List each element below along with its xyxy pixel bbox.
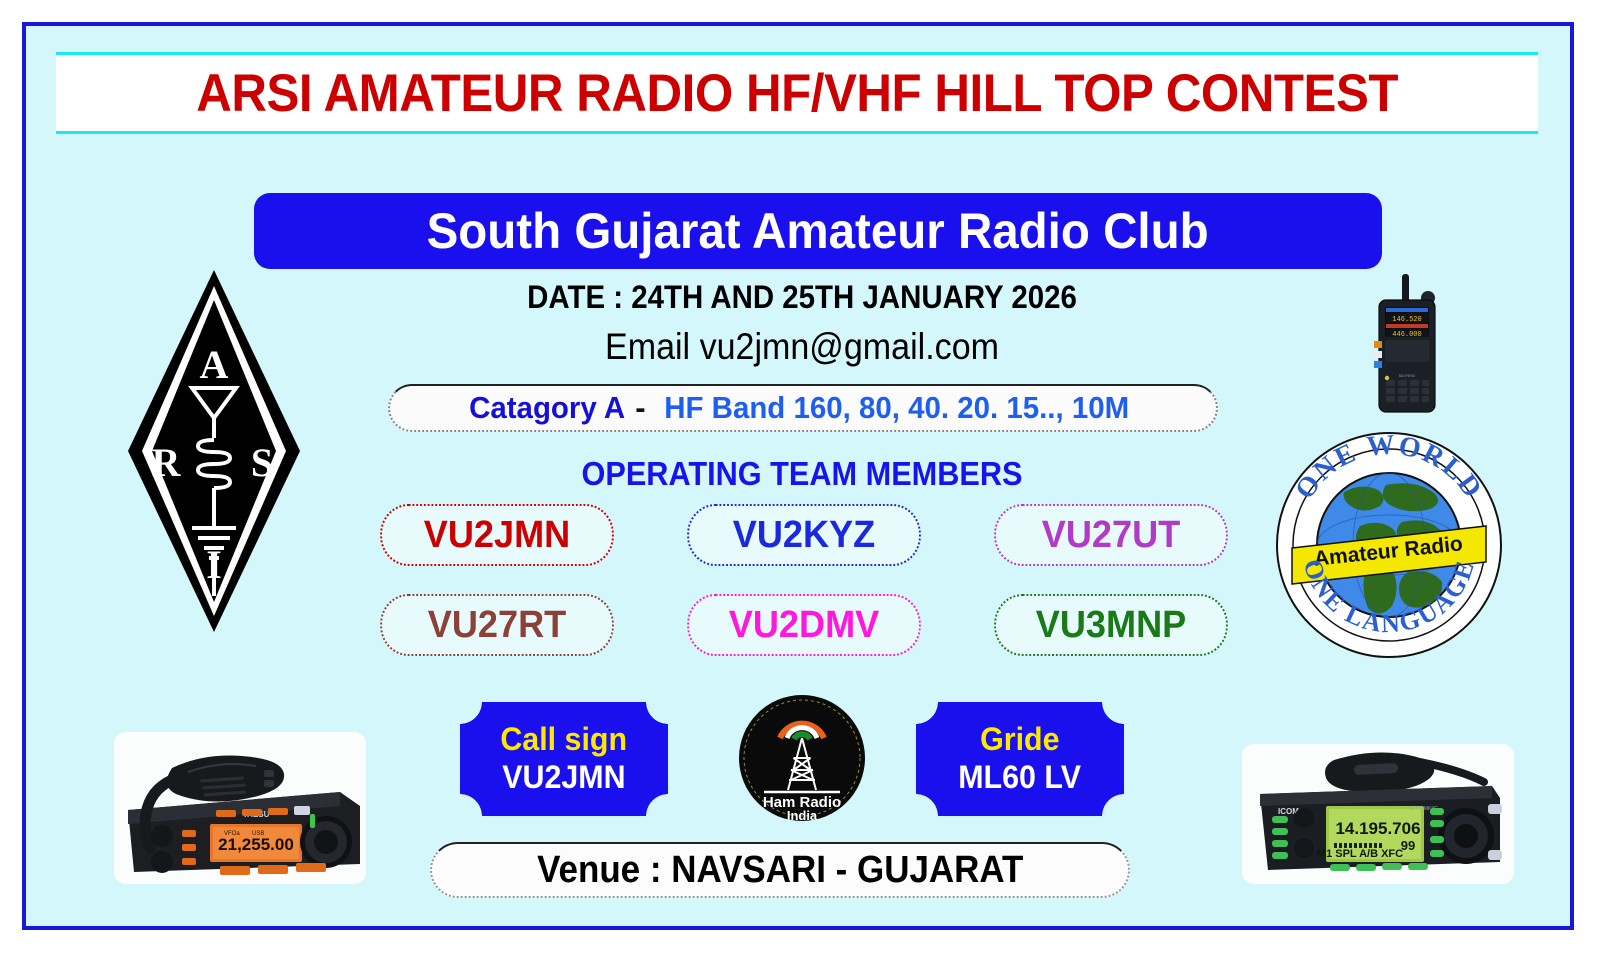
club-name-banner: South Gujarat Amateur Radio Club (254, 193, 1382, 269)
icom-radio-icon: 14.195.706 M1 SPL A/B XFC 99 ICOM IC-706… (1242, 744, 1514, 884)
hh-brand: BAOFENG (1399, 374, 1416, 378)
yaesu-hf-transceiver-photo: 21,255.00 VFOa USB YAESU (114, 732, 366, 884)
callsign-badge: VU2DMV (687, 594, 921, 656)
callsign-badge-label: Call sign (501, 721, 628, 758)
category-bands: HF Band 160, 80, 40. 20. 15.., 10M (664, 390, 1129, 426)
hh-display-line2: 446.000 (1392, 331, 1421, 339)
callsign-cell: VU3MNP (957, 594, 1264, 656)
grid-info-badge: Gride ML60 LV (916, 702, 1124, 816)
qsl-card: ARSI AMATEUR RADIO HF/VHF HILL TOP CONTE… (22, 22, 1574, 930)
icom-frequency: 14.195.706 (1335, 819, 1420, 838)
callsign-grid: VU2JMN VU2KYZ VU27UT VU27RT VU2DMV VU3MN… (344, 504, 1264, 656)
page-title: ARSI AMATEUR RADIO HF/VHF HILL TOP CONTE… (196, 67, 1398, 120)
callsign-badge-value: VU2JMN (502, 758, 625, 796)
venue-text: Venue : NAVSARI - GUJARAT (537, 849, 1023, 892)
callsign-badge: VU3MNP (994, 594, 1228, 656)
icom-hf-transceiver-photo: 14.195.706 M1 SPL A/B XFC 99 ICOM IC-706… (1242, 744, 1514, 884)
one-world-one-language-logo: Amateur Radio ONE WORLD ONE LANGUAGE (1274, 430, 1504, 660)
callsign-cell: VU27UT (957, 504, 1264, 566)
grid-badge-value: ML60 LV (959, 758, 1082, 796)
callsign-cell: VU2KYZ (651, 504, 958, 566)
ham-radio-india-logo: Ham Radio India (738, 694, 866, 822)
category-dash: - (629, 390, 651, 426)
arsi-letter-a: A (200, 342, 229, 387)
callsign-badge: VU27RT (380, 594, 614, 656)
contest-title-box: ARSI AMATEUR RADIO HF/VHF HILL TOP CONTE… (56, 52, 1538, 134)
icom-status-line: M1 SPL A/B XFC (1317, 848, 1403, 860)
category-box: Catagory A - HF Band 160, 80, 40. 20. 15… (388, 384, 1218, 432)
yaesu-frequency: 21,255.00 (218, 835, 294, 854)
arsi-letter-s: S (251, 440, 273, 485)
callsign-badge: VU2KYZ (687, 504, 921, 566)
category-label: Catagory A (469, 390, 625, 426)
callsign-cell: VU2JMN (344, 504, 651, 566)
club-name-text: South Gujarat Amateur Radio Club (427, 206, 1209, 256)
yaesu-mode: USB (252, 831, 264, 837)
callsign-badge: VU27UT (994, 504, 1228, 566)
hh-display-line1: 146.520 (1392, 316, 1421, 324)
venue-box: Venue : NAVSARI - GUJARAT (430, 842, 1130, 898)
arsi-logo-icon: A R S I (114, 266, 314, 636)
callsign-badge: VU2JMN (380, 504, 614, 566)
callsign-cell: VU2DMV (651, 594, 958, 656)
yaesu-radio-icon: 21,255.00 VFOa USB YAESU (114, 732, 366, 884)
hri-line2: India (787, 808, 818, 822)
ham-radio-india-icon: Ham Radio India (738, 694, 866, 822)
yaesu-vfo: VFOa (224, 831, 240, 837)
globe-logo-icon: Amateur Radio ONE WORLD ONE LANGUAGE (1274, 430, 1504, 660)
arsi-letter-r: R (152, 440, 182, 485)
handheld-transceiver-photo: 146.520 446.000 BAOFENG (1362, 274, 1452, 414)
grid-badge-label: Gride (980, 721, 1059, 758)
callsign-info-badge: Call sign VU2JMN (460, 702, 668, 816)
callsign-cell: VU27RT (344, 594, 651, 656)
icom-meter: 99 (1401, 838, 1415, 853)
handheld-radio-icon: 146.520 446.000 BAOFENG (1362, 274, 1452, 414)
arsi-diamond-logo: A R S I (114, 266, 314, 636)
